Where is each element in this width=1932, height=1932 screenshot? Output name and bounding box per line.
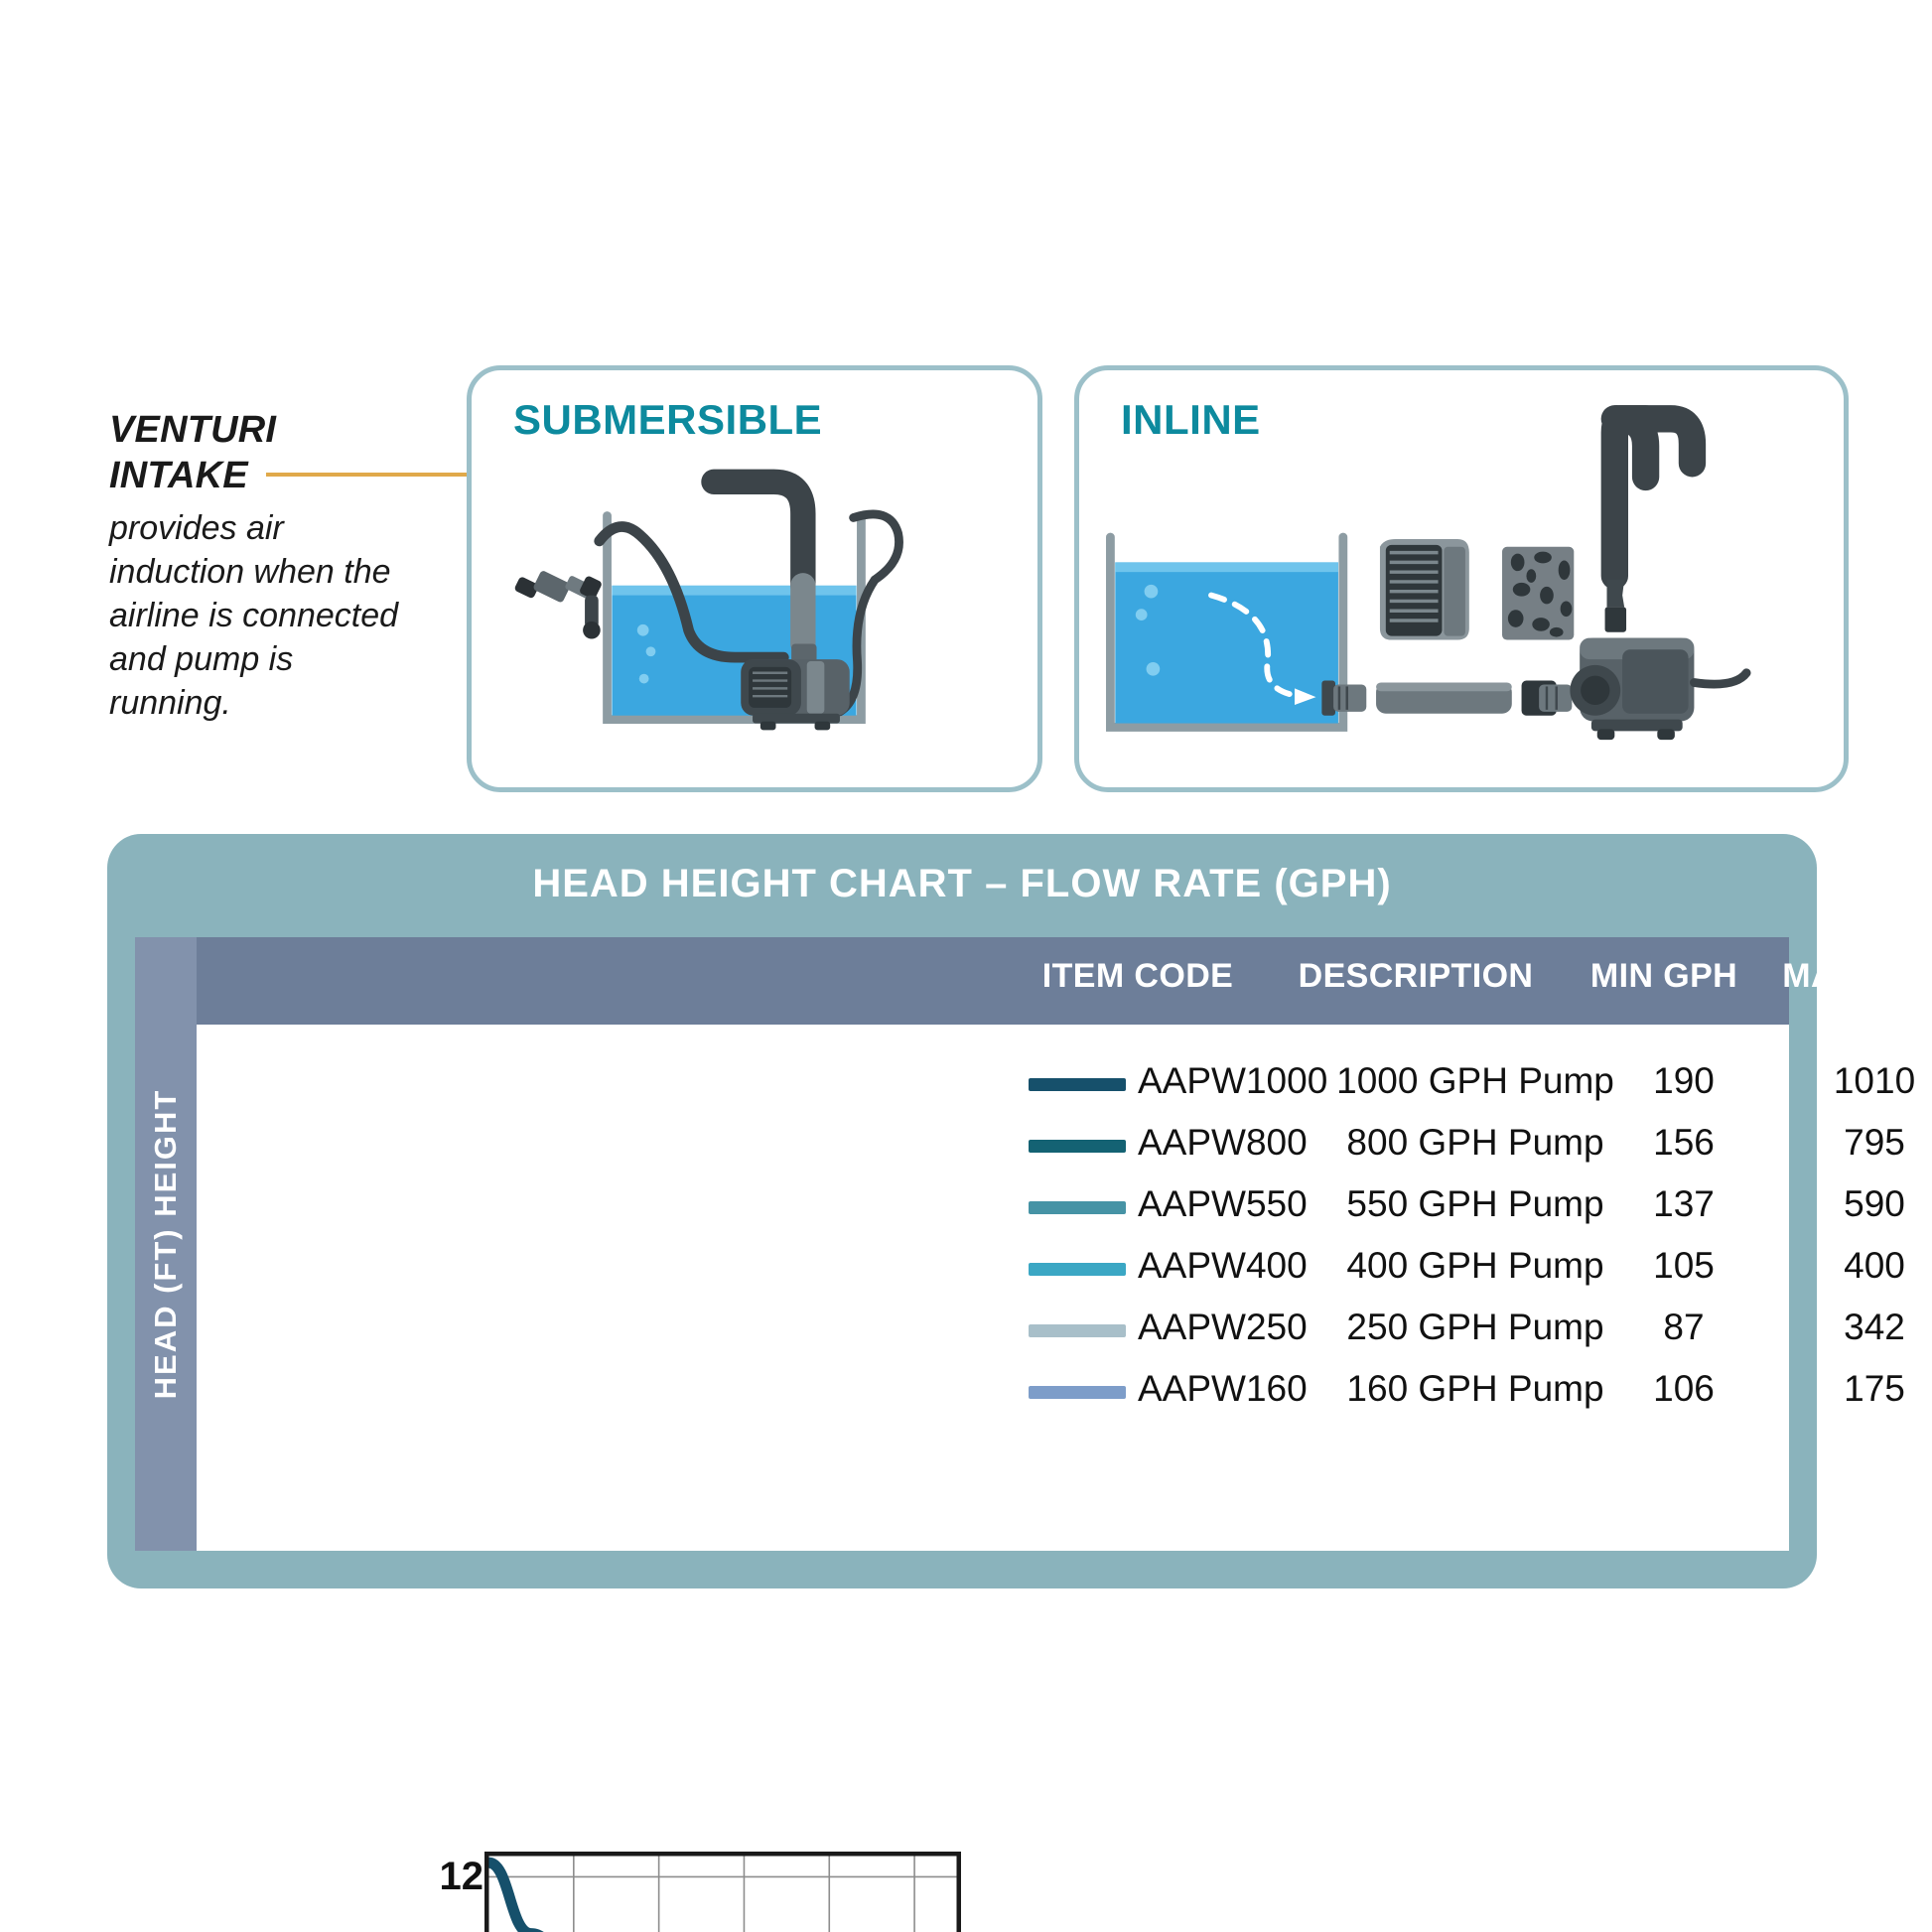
- filter-cage-part: [1380, 539, 1469, 640]
- chart-card-title: HEAD HEIGHT CHART – FLOW RATE (GPH): [107, 862, 1817, 906]
- y-tick-label: 12: [414, 1855, 483, 1899]
- submersible-pump: [741, 659, 849, 730]
- head-height-chart-card: HEAD HEIGHT CHART – FLOW RATE (GPH) HEAD…: [107, 834, 1817, 1588]
- plot-svg: [484, 1852, 961, 1932]
- table-row: AAPW550550 GPH Pump137590: [107, 1177, 1817, 1239]
- venturi-callout-title: VENTURI INTAKE: [109, 407, 407, 498]
- table-row: AAPW250250 GPH Pump87342: [107, 1301, 1817, 1362]
- cell-description: 160 GPH Pump: [1326, 1368, 1624, 1410]
- plot-gridlines: [488, 1856, 957, 1932]
- cell-max-gph: 400: [1785, 1245, 1932, 1287]
- cell-min-gph: 87: [1594, 1307, 1773, 1348]
- col-header-max-gph: MAX GPH: [1763, 957, 1932, 996]
- table-row: AAPW160160 GPH Pump106175: [107, 1362, 1817, 1424]
- cell-min-gph: 105: [1594, 1245, 1773, 1287]
- cell-min-gph: 156: [1594, 1122, 1773, 1164]
- venturi-title-line1: VENTURI: [109, 407, 407, 453]
- legend-swatch: [1029, 1263, 1126, 1276]
- legend-swatch: [1029, 1140, 1126, 1153]
- cell-max-gph: 590: [1785, 1183, 1932, 1225]
- inline-diagram: [1079, 370, 1844, 787]
- legend-swatch: [1029, 1324, 1126, 1337]
- venturi-fitting: [513, 570, 603, 639]
- cell-min-gph: 106: [1594, 1368, 1773, 1410]
- col-header-description: DESCRIPTION: [1267, 957, 1565, 996]
- y-tick-label: 10: [414, 1926, 483, 1932]
- cell-max-gph: 1010: [1785, 1060, 1932, 1102]
- curve-aapw1000: [488, 1863, 918, 1932]
- venturi-callout-body: provides air induction when the airline …: [109, 506, 407, 725]
- legend-swatch: [1029, 1201, 1126, 1214]
- plot-curves: [488, 1863, 918, 1932]
- col-header-min-gph: MIN GPH: [1565, 957, 1763, 996]
- flow-rate-plot: 024681012 2004006008001000: [390, 1852, 986, 1932]
- foam-sponge-part: [1502, 547, 1574, 640]
- cell-description: 1000 GPH Pump: [1326, 1060, 1624, 1102]
- cell-description: 800 GPH Pump: [1326, 1122, 1624, 1164]
- cell-description: 550 GPH Pump: [1326, 1183, 1624, 1225]
- cell-description: 250 GPH Pump: [1326, 1307, 1624, 1348]
- cell-max-gph: 342: [1785, 1307, 1932, 1348]
- panel-submersible: SUBMERSIBLE: [467, 365, 1042, 792]
- legend-swatch: [1029, 1386, 1126, 1399]
- cell-max-gph: 795: [1785, 1122, 1932, 1164]
- plot-frame: [486, 1854, 959, 1932]
- table-row: AAPW10001000 GPH Pump1901010: [107, 1054, 1817, 1116]
- cell-min-gph: 137: [1594, 1183, 1773, 1225]
- cell-max-gph: 175: [1785, 1368, 1932, 1410]
- cell-min-gph: 190: [1594, 1060, 1773, 1102]
- col-header-item-code: ITEM CODE: [1019, 957, 1257, 996]
- table-row: AAPW400400 GPH Pump105400: [107, 1239, 1817, 1301]
- legend-swatch: [1029, 1078, 1126, 1091]
- inline-pump: [1570, 638, 1746, 741]
- table-row: AAPW800800 GPH Pump156795: [107, 1116, 1817, 1177]
- infographic-root: VENTURI INTAKE provides air induction wh…: [0, 0, 1932, 1932]
- submersible-diagram: [472, 370, 1037, 787]
- panel-inline: INLINE: [1074, 365, 1849, 792]
- venturi-callout: VENTURI INTAKE provides air induction wh…: [109, 407, 407, 725]
- cell-description: 400 GPH Pump: [1326, 1245, 1624, 1287]
